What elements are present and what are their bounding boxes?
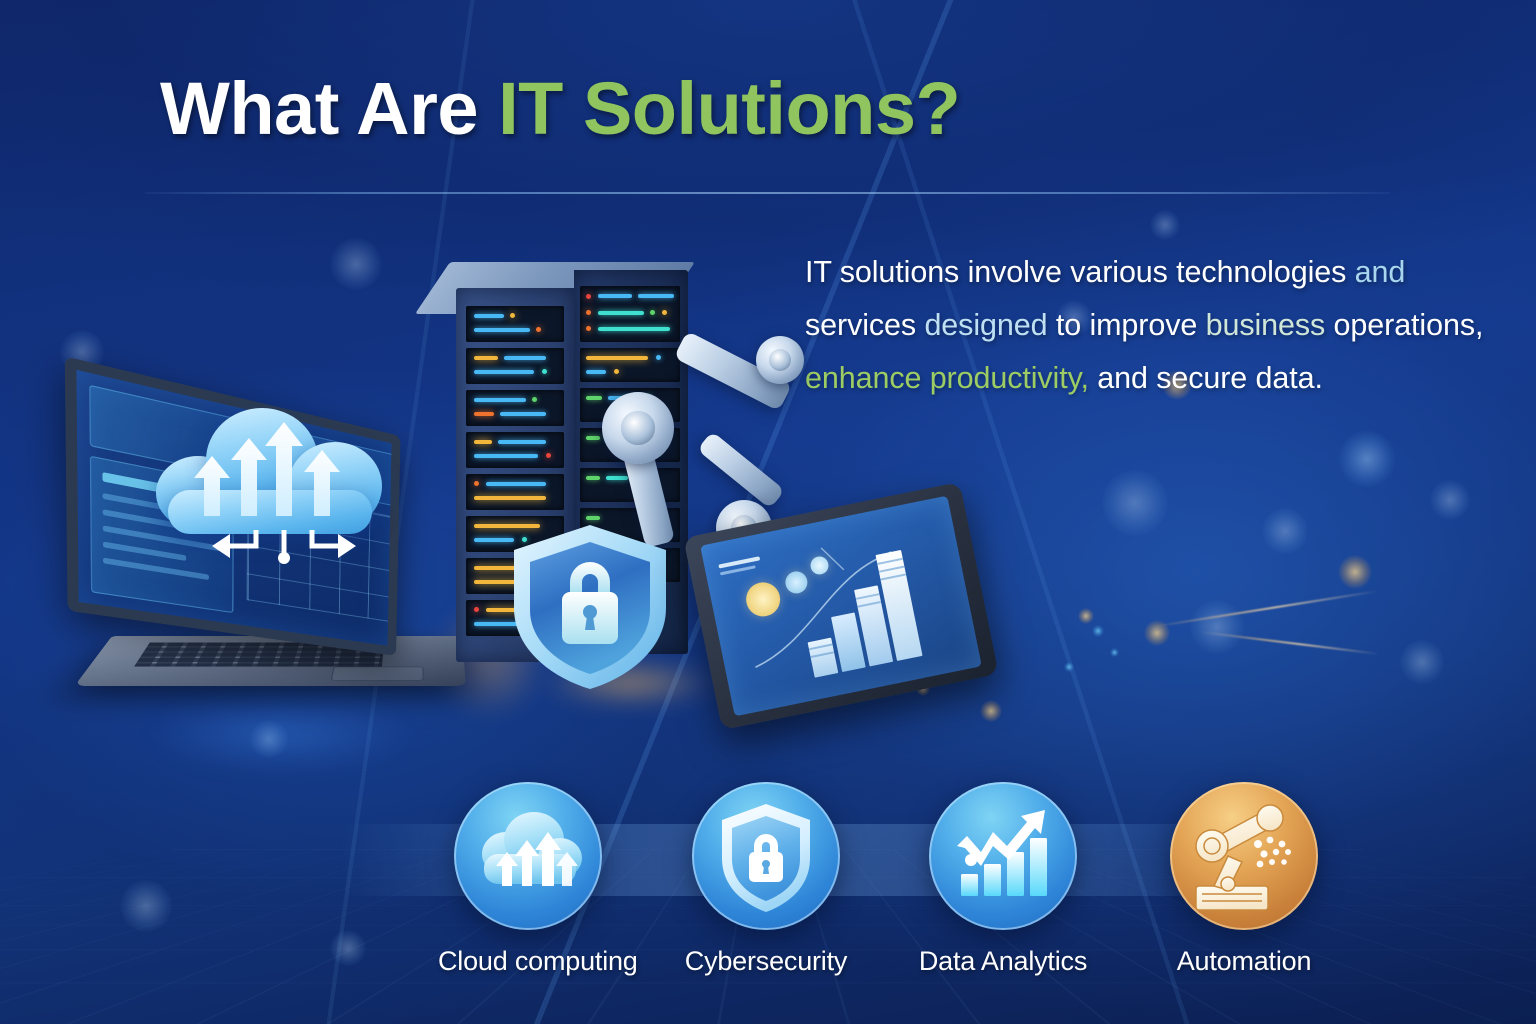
rack-panel [466, 306, 564, 342]
rack-panel [580, 388, 680, 422]
rack-panel [466, 474, 564, 510]
bokeh-particle [1338, 430, 1396, 488]
arm-fore-segment [697, 431, 785, 509]
laptop-screen [65, 356, 401, 656]
screen-bar [103, 525, 221, 551]
shield-inner [530, 542, 650, 674]
server-rack-left-face [456, 288, 574, 662]
icon-item-data-analytics[interactable]: Data Analytics [913, 782, 1093, 977]
paragraph-segment-6: operations, [1334, 308, 1484, 342]
laptop-keyboard [134, 642, 384, 666]
cyan-glow-particle [1064, 662, 1074, 672]
tablet-analytics [700, 508, 982, 704]
screen-card [90, 456, 234, 614]
cloud-base [168, 490, 372, 534]
cloud-arrow-up [194, 456, 230, 516]
arm-shoulder-joint [602, 392, 674, 464]
automation-circle[interactable] [1170, 782, 1318, 930]
arm-wrist-joint [716, 500, 772, 556]
rack-panel [466, 558, 564, 594]
bokeh-particle [1150, 210, 1180, 240]
cloud-computing-circle[interactable] [454, 782, 602, 930]
cyan-glow-particle [1092, 625, 1104, 637]
rack-panel [466, 348, 564, 384]
intro-paragraph: IT solutions involve various technologie… [805, 246, 1495, 405]
shield-outer [514, 525, 666, 689]
tablet-header-line [718, 556, 760, 568]
tablet-bar-stripe [810, 651, 834, 658]
tablet-chart-bar [876, 550, 923, 661]
arm-lower-segment [619, 432, 675, 548]
rack-panel [466, 600, 564, 636]
tablet-bar-stripe [809, 643, 833, 650]
tablet-bar-stripe [857, 601, 881, 608]
cloud-stem-right [312, 530, 338, 546]
cloud-node-dot [278, 552, 290, 564]
robotic-arm-illustration [590, 330, 820, 630]
tablet-trend-line [700, 496, 982, 717]
tablet-bar-stripe [880, 573, 906, 580]
bokeh-particle [60, 330, 104, 374]
icon-label-cybersecurity: Cybersecurity [676, 946, 856, 977]
bokeh-particle [1430, 480, 1470, 520]
bokeh-particle [1102, 470, 1168, 536]
screen-bar [103, 493, 216, 520]
cloud-arrow-up [304, 450, 340, 516]
icon-item-automation[interactable]: Automation [1154, 782, 1334, 977]
cloud-arrow-up [265, 422, 303, 516]
title-block: What Are IT Solutions? [160, 72, 960, 146]
gold-glow-particle [1078, 608, 1094, 624]
cloud-arrows-svg [148, 398, 388, 573]
page-title-white-part: What Are [160, 67, 498, 150]
screen-card [89, 385, 234, 476]
gold-glow-particle [916, 682, 930, 696]
laptop-illustration [70, 440, 490, 760]
icon-label-data-analytics: Data Analytics [913, 946, 1093, 977]
title-divider [145, 192, 1390, 194]
paragraph-segment-8: and secure data. [1097, 361, 1323, 395]
arm-upper-segment [674, 331, 793, 411]
paragraph-segment-4: to improve [1056, 308, 1206, 342]
icon-row: Cloud computing [0, 782, 1536, 1012]
gold-glow-particle [1338, 555, 1372, 589]
tablet-body [683, 482, 998, 730]
tablet-chart-bar [854, 585, 893, 666]
screen-bar [103, 542, 186, 561]
laptop-base [75, 636, 466, 686]
cloud-puff [206, 408, 318, 512]
rack-panel [580, 348, 680, 382]
screen-data-grid [247, 487, 392, 622]
cloud-arrows-icon [454, 782, 602, 930]
floor-glow [430, 600, 550, 720]
lock-keyhole [583, 605, 597, 619]
gear-icon-medium [783, 569, 809, 595]
cloud-puff [156, 456, 240, 530]
icon-item-cloud-computing[interactable]: Cloud computing [438, 782, 618, 977]
tablet-chart-bar [831, 612, 866, 672]
infographic-poster: What Are IT Solutions? IT solutions invo… [0, 0, 1536, 1024]
rack-panel [466, 390, 564, 426]
paragraph-segment-7: enhance productivity, [805, 361, 1097, 395]
screen-bar [103, 509, 200, 532]
bokeh-particle [1190, 600, 1244, 654]
gold-glow-particle [1144, 620, 1170, 646]
rack-panel [580, 468, 680, 502]
rack-panel [580, 428, 680, 462]
paragraph-segment-3: designed [924, 308, 1055, 342]
icon-label-cloud-computing: Cloud computing [438, 946, 618, 977]
bar-chart-trend-icon [929, 782, 1077, 930]
lock-keyhole-stem [585, 616, 595, 630]
server-rack-right-face [574, 270, 688, 654]
rack-panel [466, 516, 564, 552]
tablet-bar-stripe [877, 558, 903, 565]
security-shield-lock [508, 522, 673, 692]
paragraph-segment-5: business [1206, 308, 1334, 342]
robot-arm-icon [1170, 782, 1318, 930]
server-rack [450, 262, 695, 662]
cloud-arrow-left [212, 534, 230, 558]
laptop-trackpad [330, 667, 423, 681]
lock-body [562, 592, 618, 644]
paragraph-segment-0: IT solutions involve various technologie… [805, 255, 1355, 289]
arm-elbow-joint [756, 336, 804, 384]
page-title: What Are IT Solutions? [160, 72, 960, 146]
rack-panel [466, 432, 564, 468]
icon-label-automation: Automation [1154, 946, 1334, 977]
cybersecurity-circle[interactable] [692, 782, 840, 930]
data-analytics-circle[interactable] [929, 782, 1077, 930]
icon-item-cybersecurity[interactable]: Cybersecurity [676, 782, 856, 977]
gold-glow-particle [980, 700, 1002, 722]
rack-panel [580, 548, 680, 582]
cyan-glow-particle [1110, 648, 1119, 657]
screen-bar [256, 438, 333, 460]
tablet-header-line [720, 565, 756, 575]
rack-panel [580, 508, 680, 542]
paragraph-segment-2: services [805, 308, 924, 342]
floor-glow [540, 660, 720, 706]
tablet-bar-stripe [856, 593, 880, 600]
cloud-upload-graphic [148, 398, 388, 573]
gear-icon-large [743, 579, 783, 619]
tablet-screen [700, 496, 982, 717]
floor-glow [150, 700, 410, 770]
tablet-bar-stripe [879, 566, 905, 573]
bokeh-particle [250, 720, 288, 758]
bokeh-particle [1400, 640, 1444, 684]
tablet-chart-bar [808, 638, 839, 678]
arm-gripper [749, 536, 818, 575]
cloud-stem-left [230, 530, 256, 546]
cloud-puff [288, 442, 382, 530]
cloud-arrow-up [231, 438, 267, 516]
light-streak [1201, 631, 1380, 655]
bokeh-particle [1262, 508, 1308, 554]
screen-bar [102, 472, 177, 496]
light-streak [1151, 590, 1378, 628]
cloud-arrow-right [338, 534, 356, 558]
paragraph-segment-1: and [1355, 255, 1406, 289]
server-rack-top [415, 262, 695, 314]
bokeh-particle [330, 238, 382, 290]
shield-lock-icon [692, 782, 840, 930]
page-title-green-part: IT Solutions? [498, 67, 960, 150]
screen-bar [103, 558, 209, 581]
gear-icon-small [809, 555, 830, 576]
screen-card [247, 421, 393, 506]
lock-shackle [570, 562, 610, 594]
rack-panel [580, 286, 680, 342]
screen-bar [256, 454, 312, 471]
